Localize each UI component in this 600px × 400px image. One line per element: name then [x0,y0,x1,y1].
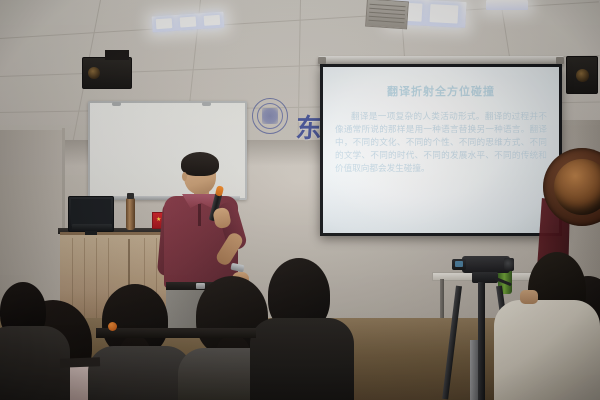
tripod-center-column [478,282,485,400]
presenter-ear [182,172,187,181]
water-bottle [126,198,135,230]
audience-desk-edge-left [60,357,100,367]
presenter-shirt-placket [198,204,201,226]
slide-title: 翻译折射全方位碰撞 [323,83,559,99]
podium-keyboard [72,224,112,230]
orange-drink-cap [108,322,117,331]
ceiling-air-vent [365,0,409,29]
camcorder-lcd-screen [455,261,463,267]
table-leg-left [440,279,444,321]
operator-hand [520,290,538,304]
audience-body-white-jacket [494,300,600,400]
wall-speaker-right [566,56,598,94]
audience-body [250,318,354,400]
presenter-hair [181,152,219,176]
slide-body-text: 翻译是一项复杂的人类活动形式。翻译的过程并不像通常所说的那样是用一种语言替换另一… [335,111,547,176]
university-seal-icon [252,98,288,134]
audience-body [88,346,192,400]
tripod-leg-extension [470,340,478,400]
audience-desk-edge [96,328,256,338]
ceiling-light-panel-far-right [486,0,528,10]
projection-screen: 翻译折射全方位碰撞 翻译是一项复杂的人类活动形式。翻译的过程并不像通常所说的那样… [320,64,562,236]
wall-speaker-left [82,57,132,89]
camcorder-lens [504,258,514,271]
camcorder-body [462,256,510,273]
lecture-hall-photo: 东 翻译折射全方位碰撞 翻译是一项复杂的人类活动形式。翻译的过程并不像通常所说的… [0,0,600,400]
whiteboard [88,101,247,200]
